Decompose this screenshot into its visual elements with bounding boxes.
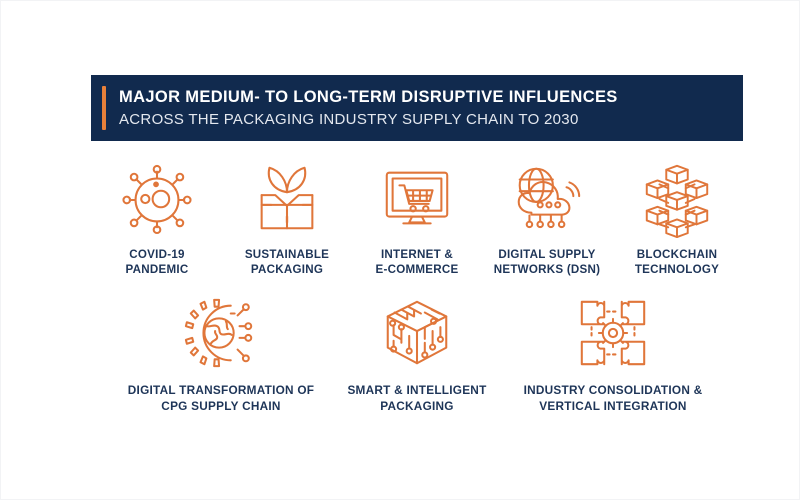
page-title: MAJOR MEDIUM- TO LONG-TERM DISRUPTIVE IN… xyxy=(119,86,618,108)
cloud-globe-network-icon xyxy=(505,159,589,239)
influence-label: INTERNET & E-COMMERCE xyxy=(375,247,458,278)
influence-item-blockchain[interactable]: BLOCKCHAIN TECHNOLOGY xyxy=(612,159,742,278)
influence-item-industry-consolidation[interactable]: INDUSTRY CONSOLIDATION & VERTICAL INTEGR… xyxy=(515,293,711,414)
influence-item-covid[interactable]: COVID-19 PANDEMIC xyxy=(92,159,222,278)
page-subtitle: ACROSS THE PACKAGING INDUSTRY SUPPLY CHA… xyxy=(119,110,618,130)
puzzle-gear-icon xyxy=(571,293,655,373)
infographic-canvas: MAJOR MEDIUM- TO LONG-TERM DISRUPTIVE IN… xyxy=(0,0,800,500)
influence-label: DIGITAL SUPPLY NETWORKS (DSN) xyxy=(494,247,601,278)
influence-row-1: COVID-19 PANDEMIC SUSTAINABLE PACKAGING xyxy=(91,159,743,278)
influence-row-2: DIGITAL TRANSFORMATION OF CPG SUPPLY CHA… xyxy=(121,293,713,414)
influence-label: DIGITAL TRANSFORMATION OF CPG SUPPLY CHA… xyxy=(128,383,314,414)
virus-icon xyxy=(115,159,199,239)
monitor-shopping-cart-icon xyxy=(375,159,459,239)
influence-item-ecommerce[interactable]: INTERNET & E-COMMERCE xyxy=(352,159,482,278)
header-banner: MAJOR MEDIUM- TO LONG-TERM DISRUPTIVE IN… xyxy=(91,75,743,141)
influence-label: INDUSTRY CONSOLIDATION & VERTICAL INTEGR… xyxy=(524,383,703,414)
influence-label: COVID-19 PANDEMIC xyxy=(126,247,189,278)
influence-label: SMART & INTELLIGENT PACKAGING xyxy=(347,383,486,414)
blockchain-cubes-icon xyxy=(635,159,719,239)
eco-box-plant-icon xyxy=(245,159,329,239)
influence-label: BLOCKCHAIN TECHNOLOGY xyxy=(635,247,719,278)
influence-item-sustainable-packaging[interactable]: SUSTAINABLE PACKAGING xyxy=(222,159,352,278)
gear-globe-circuit-icon xyxy=(179,293,263,373)
accent-bar-icon xyxy=(102,86,106,130)
influence-label: SUSTAINABLE PACKAGING xyxy=(245,247,329,278)
influence-item-digital-transformation[interactable]: DIGITAL TRANSFORMATION OF CPG SUPPLY CHA… xyxy=(123,293,319,414)
smart-box-circuit-icon xyxy=(375,293,459,373)
header-text-block: MAJOR MEDIUM- TO LONG-TERM DISRUPTIVE IN… xyxy=(119,86,618,131)
influence-item-smart-packaging[interactable]: SMART & INTELLIGENT PACKAGING xyxy=(319,293,515,414)
influence-item-dsn[interactable]: DIGITAL SUPPLY NETWORKS (DSN) xyxy=(482,159,612,278)
